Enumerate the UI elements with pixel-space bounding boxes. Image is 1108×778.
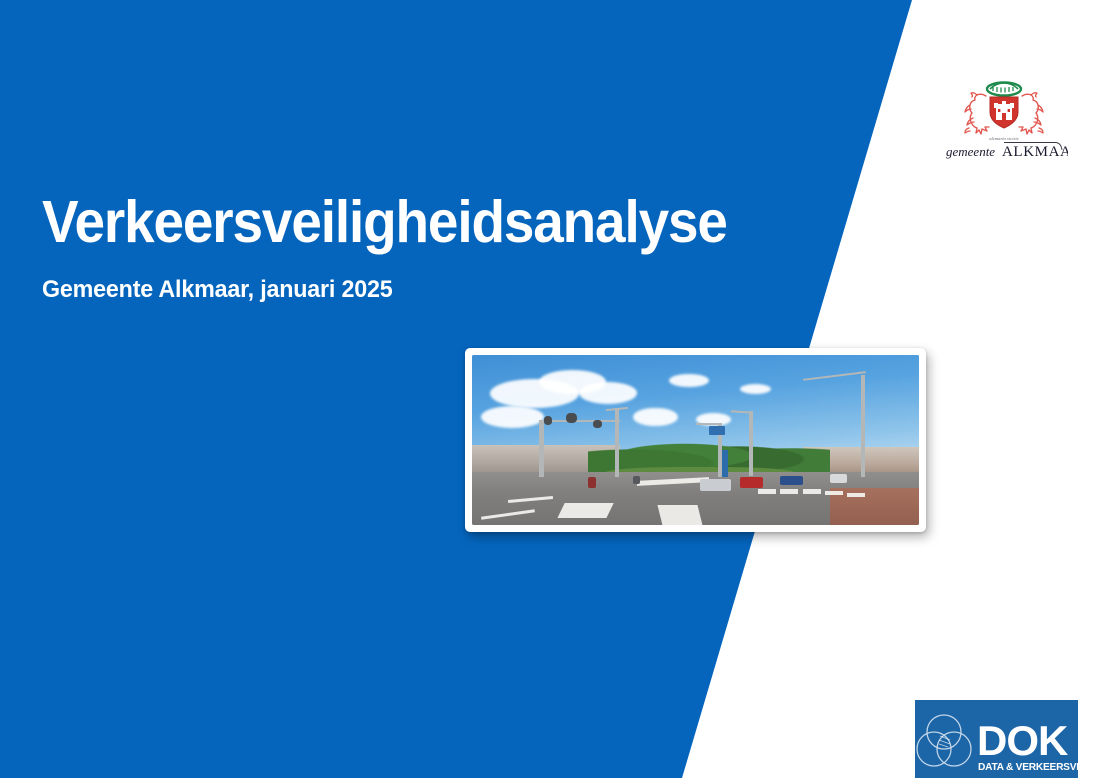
traffic-light-icon [544, 416, 553, 425]
blue-sign-pole [722, 450, 727, 477]
title-block: Verkeersveiligheidsanalyse Gemeente Alkm… [42, 192, 832, 304]
car-silver [700, 479, 731, 491]
intersection-photo [472, 355, 919, 525]
cloud-icon [633, 408, 678, 427]
direction-sign-icon [709, 426, 725, 435]
intersection-photo-card [465, 348, 926, 532]
crosswalk-stripe [847, 493, 865, 497]
road-arrow-marking [657, 505, 702, 525]
page-subtitle: Gemeente Alkmaar, januari 2025 [42, 276, 808, 304]
car-blue [780, 476, 802, 485]
coat-of-arms-motto: alcmaria victrix [989, 136, 1018, 141]
title-slide: Verkeersveiligheidsanalyse Gemeente Alkm… [0, 0, 1108, 778]
cloud-icon [669, 374, 709, 388]
street-lamp-pole [749, 411, 753, 476]
dok-wordmark: DOK [977, 717, 1068, 764]
dok-logo: DOK DATA & VERKEERSVEILIGHEID [915, 700, 1078, 778]
road-arrow-marking [558, 503, 615, 518]
alkmaar-coat-of-arms: alcmaria victrix gemeente ALKMAAR [940, 76, 1068, 164]
dok-tagline: DATA & VERKEERSVEILIGHEID [978, 762, 1078, 773]
page-title: Verkeersveiligheidsanalyse [42, 192, 777, 254]
crosswalk-stripe [758, 489, 776, 493]
street-lamp-pole [615, 408, 619, 478]
street-lamp-pole [861, 375, 865, 477]
car-red [740, 477, 762, 487]
traffic-light-icon [593, 420, 602, 429]
crosswalk-stripe [803, 489, 821, 493]
traffic-light-gantry [696, 423, 723, 425]
traffic-light-pole [539, 420, 544, 478]
crosswalk-stripe [825, 491, 843, 495]
car-white [830, 474, 848, 483]
traffic-light-icon [566, 413, 577, 423]
coat-of-arms-gemeente-label: gemeente [946, 144, 995, 159]
cyclist-icon [633, 476, 640, 485]
cyclist-icon [588, 477, 596, 487]
coat-of-arms-alkmaar-label: ALKMAAR [1002, 144, 1068, 160]
crosswalk-stripe [780, 489, 798, 493]
photo-pavement [830, 488, 919, 525]
cloud-icon [481, 406, 544, 428]
venn-circles-icon [917, 715, 971, 766]
